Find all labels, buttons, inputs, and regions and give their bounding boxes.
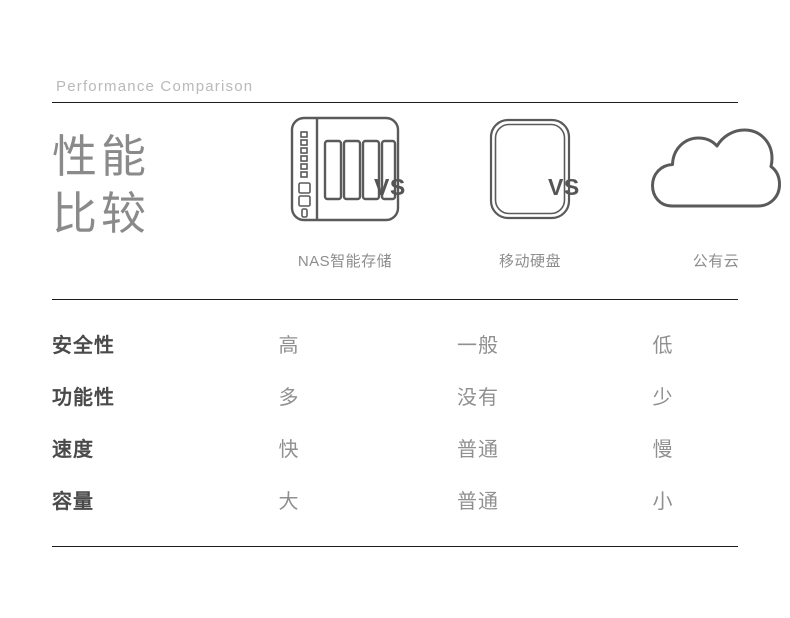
hero-section: 性能 比较 — [52, 110, 738, 295]
divider-bottom — [52, 546, 738, 547]
table-row: 功能性 多 没有 少 — [52, 369, 738, 421]
vs-separator-2: VS — [548, 174, 580, 201]
table-cell-value: 慢 — [608, 433, 718, 462]
comparison-table: 安全性 高 一般 低 功能性 多 没有 少 速度 快 普通 慢 容量 大 普通 … — [52, 299, 738, 546]
table-cell-value: 普通 — [423, 485, 533, 514]
table-cell-value: 大 — [234, 485, 344, 514]
table-cell-value: 小 — [608, 485, 718, 514]
comparison-infographic: Performance Comparison 性能 比较 — [0, 0, 790, 618]
table-cell-value: 低 — [608, 329, 718, 358]
page-title-line-2: 比较 — [52, 185, 222, 242]
divider-top — [52, 102, 738, 103]
comparison-column-label-cloud: 公有云 — [630, 250, 790, 271]
comparison-column-label-hdd: 移动硬盘 — [465, 250, 595, 271]
table-row-label: 容量 — [52, 485, 202, 514]
cloud-icon — [630, 110, 790, 228]
table-row-label: 安全性 — [52, 329, 202, 358]
table-cell-value: 多 — [234, 381, 344, 410]
vs-separator-1: VS — [374, 174, 406, 201]
table-cell-value: 少 — [608, 381, 718, 410]
page-title-line-1: 性能 — [52, 128, 222, 185]
table-row: 速度 快 普通 慢 — [52, 421, 738, 473]
comparison-column-nas: NAS智能存储 — [230, 110, 460, 271]
nas-device-icon — [230, 110, 460, 228]
table-row-label: 速度 — [52, 433, 202, 462]
table-row: 安全性 高 一般 低 — [52, 317, 738, 369]
page-title: 性能 比较 — [52, 128, 222, 242]
table-cell-value: 没有 — [423, 381, 533, 410]
page-eyebrow: Performance Comparison — [56, 78, 253, 95]
portable-hard-drive-icon — [465, 110, 595, 228]
table-row: 容量 大 普通 小 — [52, 473, 738, 525]
comparison-column-label-nas: NAS智能存储 — [230, 250, 460, 271]
table-cell-value: 普通 — [423, 433, 533, 462]
comparison-column-cloud: 公有云 — [630, 110, 790, 271]
table-cell-value: 快 — [234, 433, 344, 462]
table-cell-value: 一般 — [423, 329, 533, 358]
table-cell-value: 高 — [234, 329, 344, 358]
table-row-label: 功能性 — [52, 381, 202, 410]
